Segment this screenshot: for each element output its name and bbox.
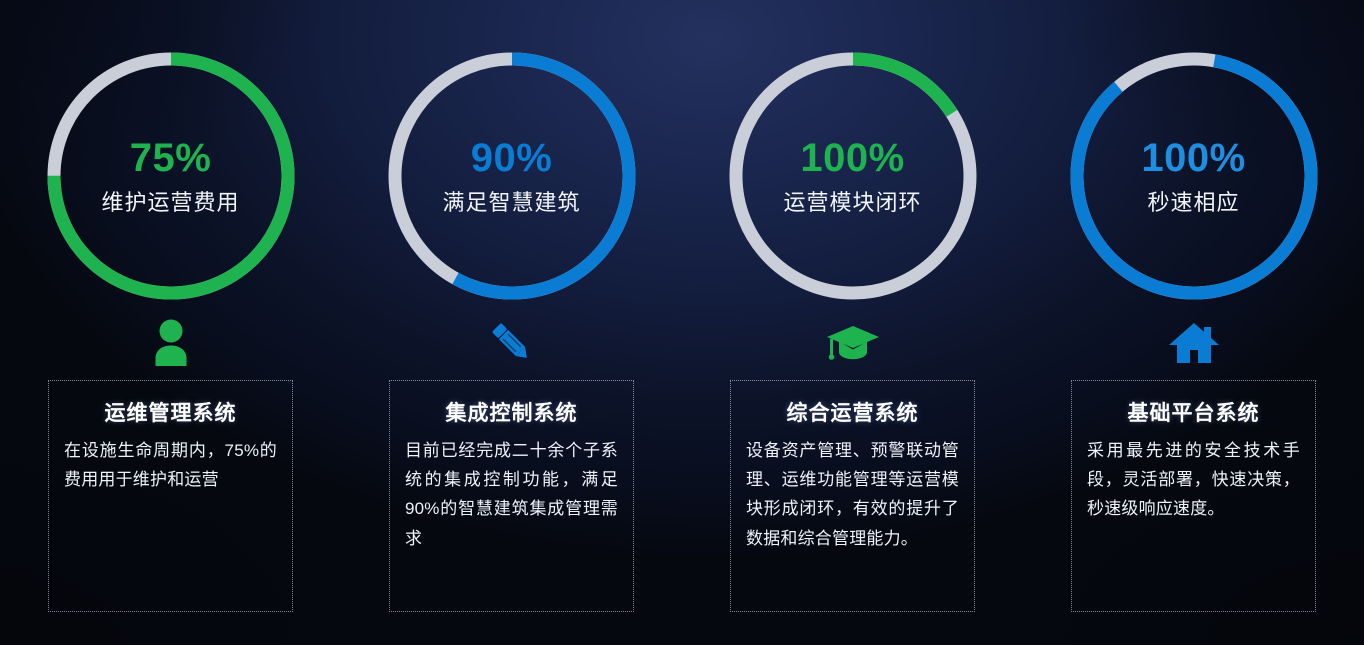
card-body-1: 在设施生命周期内，75%的费用用于维护和运营: [64, 436, 277, 494]
ring-label-3: 运营模块闭环: [783, 192, 921, 214]
card-body-4: 采用最先进的安全技术手段，灵活部署，快速决策，秒速级响应速度。: [1087, 436, 1300, 524]
card-title-2: 集成控制系统: [405, 397, 618, 427]
percent-value-1: 75%: [130, 138, 212, 178]
description-box-3: 综合运营系统 设备资产管理、预警联动管理、运维功能管理等运营模块形成闭环，有效的…: [730, 380, 975, 612]
progress-ring-4: 100% 秒速相应: [1070, 52, 1318, 300]
metric-card-2[interactable]: 90% 满足智慧建筑 集成控制系统 目前已经完成二十余个子系: [341, 0, 682, 612]
home-icon: [1167, 319, 1221, 367]
progress-ring-1: 75% 维护运营费用: [47, 52, 295, 300]
progress-ring-2: 90% 满足智慧建筑: [388, 52, 636, 300]
card-title-4: 基础平台系统: [1087, 397, 1300, 427]
description-box-2: 集成控制系统 目前已经完成二十余个子系统的集成控制功能，满足90%的智慧建筑集成…: [389, 380, 634, 612]
metric-card-4[interactable]: 100% 秒速相应 基础平台系统 采用最先进的安全技术手段，灵活部署，快速决策，…: [1023, 0, 1364, 612]
percent-value-4: 100%: [1141, 138, 1245, 178]
ring-center-3: 100% 运营模块闭环: [729, 52, 977, 300]
pencil-icon: [486, 317, 538, 369]
progress-ring-3: 100% 运营模块闭环: [729, 52, 977, 300]
user-icon: [148, 318, 194, 368]
card-title-1: 运维管理系统: [64, 397, 277, 427]
icon-slot-4: [1167, 312, 1221, 374]
graduation-cap-icon: [825, 322, 881, 364]
icon-slot-3: [825, 312, 881, 374]
metric-card-1[interactable]: 75% 维护运营费用 运维管理系统 在设施生命周期内，75%的费用用于维护和运营: [0, 0, 341, 612]
card-body-3: 设备资产管理、预警联动管理、运维功能管理等运营模块形成闭环，有效的提升了数据和综…: [746, 436, 959, 553]
ring-center-4: 100% 秒速相应: [1070, 52, 1318, 300]
ring-center-1: 75% 维护运营费用: [47, 52, 295, 300]
metric-card-3[interactable]: 100% 运营模块闭环 综合运营系统 设备资产管理、预警联动管理、运维功能管理等…: [682, 0, 1023, 612]
icon-slot-1: [148, 312, 194, 374]
ring-label-4: 秒速相应: [1147, 192, 1239, 214]
metric-card-row: 75% 维护运营费用 运维管理系统 在设施生命周期内，75%的费用用于维护和运营: [0, 0, 1364, 612]
infographic-root: 75% 维护运营费用 运维管理系统 在设施生命周期内，75%的费用用于维护和运营: [0, 0, 1364, 645]
percent-value-3: 100%: [800, 138, 904, 178]
description-box-1: 运维管理系统 在设施生命周期内，75%的费用用于维护和运营: [48, 380, 293, 612]
ring-center-2: 90% 满足智慧建筑: [388, 52, 636, 300]
ring-label-1: 维护运营费用: [101, 192, 239, 214]
card-body-2: 目前已经完成二十余个子系统的集成控制功能，满足90%的智慧建筑集成管理需求: [405, 436, 618, 553]
card-title-3: 综合运营系统: [746, 397, 959, 427]
percent-value-2: 90%: [471, 138, 553, 178]
icon-slot-2: [486, 312, 538, 374]
ring-label-2: 满足智慧建筑: [442, 192, 580, 214]
description-box-4: 基础平台系统 采用最先进的安全技术手段，灵活部署，快速决策，秒速级响应速度。: [1071, 380, 1316, 612]
